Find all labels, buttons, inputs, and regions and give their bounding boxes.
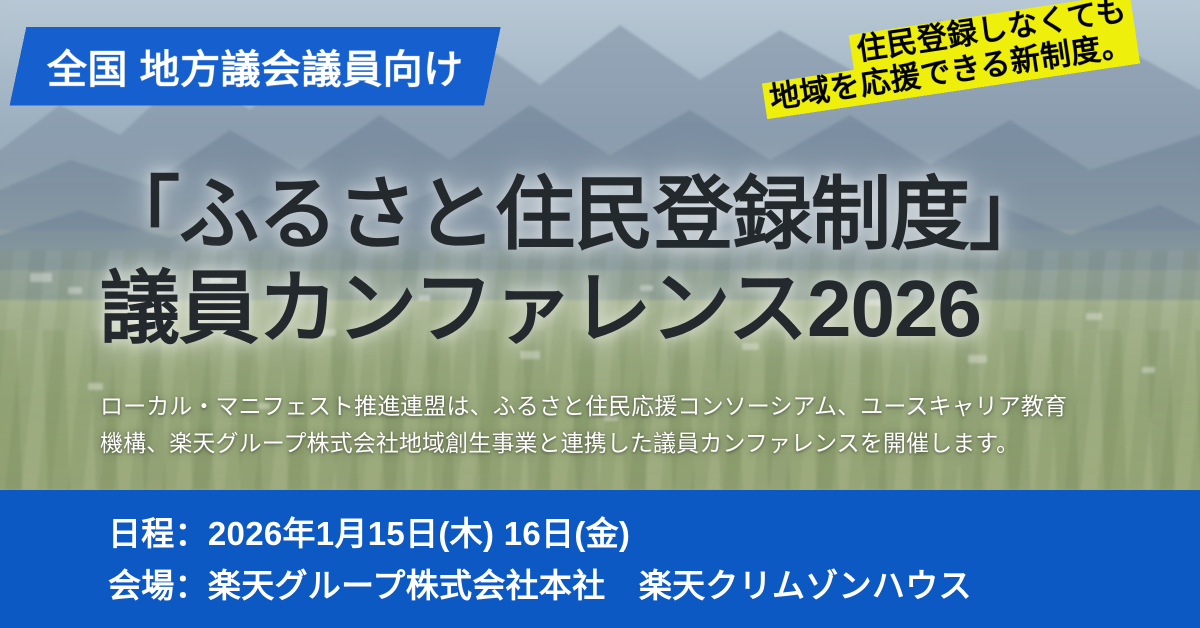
event-description: ローカル・マニフェスト推進連盟は、ふるさと住民応援コンソーシアム、ユースキャリア… (100, 388, 1090, 463)
title-line-1: 「ふるさと住民登録制度」 (100, 168, 1120, 262)
page-title: 「ふるさと住民登録制度」 議員カンファレンス2026 (100, 168, 1120, 357)
audience-badge-label: 全国 地方議会議員向け (47, 37, 464, 95)
audience-badge: 全国 地方議会議員向け (10, 27, 501, 105)
event-info-bar: 日程：2026年1月15日(木) 16日(金) 会場：楽天グループ株式会社本社 … (0, 490, 1200, 628)
event-date-row: 日程：2026年1月15日(木) 16日(金) (108, 508, 1200, 560)
title-line-2: 議員カンファレンス2026 (100, 262, 1120, 356)
event-venue-row: 会場：楽天グループ株式会社本社 楽天クリムゾンハウス (108, 560, 1200, 612)
event-banner: 全国 地方議会議員向け 住民登録しなくても 地域を応援できる新制度。 「ふるさと… (0, 0, 1200, 628)
